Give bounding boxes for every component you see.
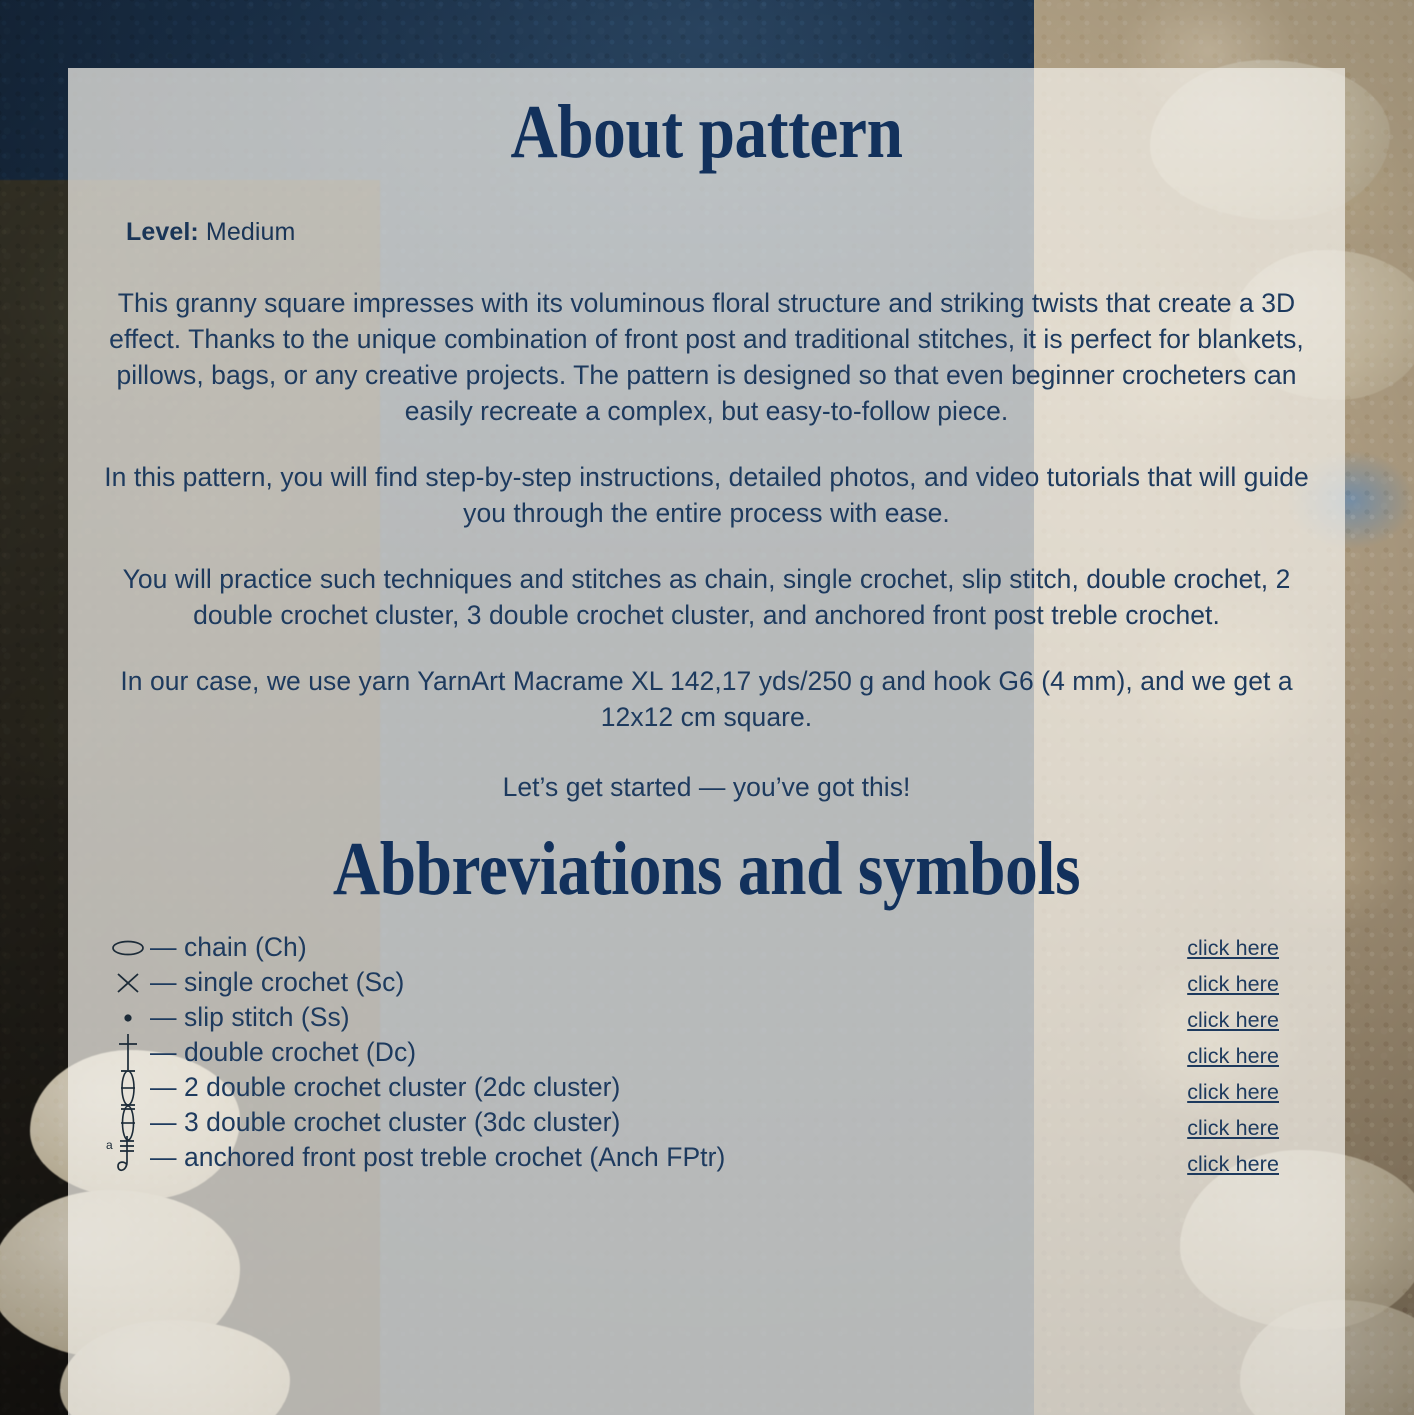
legend-label: — double crochet (Dc) <box>150 1037 416 1068</box>
anchored-front-post-treble-symbol: a <box>106 1140 150 1175</box>
cluster2-symbol <box>106 1070 150 1105</box>
cross-single-crochet-symbol <box>106 965 150 1000</box>
click-here-link-7[interactable]: click here <box>1187 1154 1279 1176</box>
closing-paragraph: Let’s get started — you’ve got this! <box>98 769 1315 805</box>
legend-list: — chain (Ch) — single crochet (Sc) <box>106 930 725 1175</box>
legend-label: — 2 double crochet cluster (2dc cluster) <box>150 1072 620 1103</box>
legend-label: — chain (Ch) <box>150 932 307 963</box>
legend-row: a — anchored front post treble crochet (… <box>106 1140 725 1175</box>
bar-double-crochet-symbol <box>106 1035 150 1070</box>
legend-label: — slip stitch (Ss) <box>150 1002 350 1033</box>
legend-label: — anchored front post treble crochet (An… <box>150 1142 725 1173</box>
techniques-paragraph: You will practice such techniques and st… <box>98 561 1315 633</box>
legend-row: — 2 double crochet cluster (2dc cluster) <box>106 1070 725 1105</box>
click-here-link-4[interactable]: click here <box>1187 1046 1279 1068</box>
level-line: Level: Medium <box>126 218 1315 247</box>
level-value: Medium <box>206 218 296 246</box>
click-here-link-5[interactable]: click here <box>1187 1082 1279 1104</box>
legend-row: — 3 double crochet cluster (3dc cluster) <box>106 1105 725 1140</box>
screenshot-root: About pattern Level: Medium This granny … <box>0 0 1414 1415</box>
abbreviations-legend: — chain (Ch) — single crochet (Sc) <box>98 930 1315 1176</box>
intro-paragraph: This granny square impresses with its vo… <box>98 285 1315 429</box>
legend-row: — chain (Ch) <box>106 930 725 965</box>
dot-slip-stitch-symbol <box>106 1000 150 1035</box>
pattern-info-card: About pattern Level: Medium This granny … <box>68 68 1345 1415</box>
click-here-link-2[interactable]: click here <box>1187 974 1279 996</box>
click-here-link-6[interactable]: click here <box>1187 1118 1279 1140</box>
contents-paragraph: In this pattern, you will find step-by-s… <box>98 459 1315 531</box>
legend-row: — single crochet (Sc) <box>106 965 725 1000</box>
legend-row: — double crochet (Dc) <box>106 1035 725 1070</box>
click-here-link-1[interactable]: click here <box>1187 938 1279 960</box>
abbreviations-title: Abbreviations and symbols <box>183 831 1230 909</box>
svg-text:a: a <box>106 1138 113 1152</box>
page-title: About pattern <box>183 94 1230 172</box>
click-here-link-3[interactable]: click here <box>1187 1010 1279 1032</box>
level-label: Level: <box>126 218 199 246</box>
legend-label: — 3 double crochet cluster (3dc cluster) <box>150 1107 620 1138</box>
legend-label: — single crochet (Sc) <box>150 967 404 998</box>
legend-row: — slip stitch (Ss) <box>106 1000 725 1035</box>
tutorial-links-column: click here click here click here click h… <box>1187 938 1279 1176</box>
materials-paragraph: In our case, we use yarn YarnArt Macrame… <box>98 663 1315 735</box>
ellipse-chain-symbol <box>106 930 150 965</box>
